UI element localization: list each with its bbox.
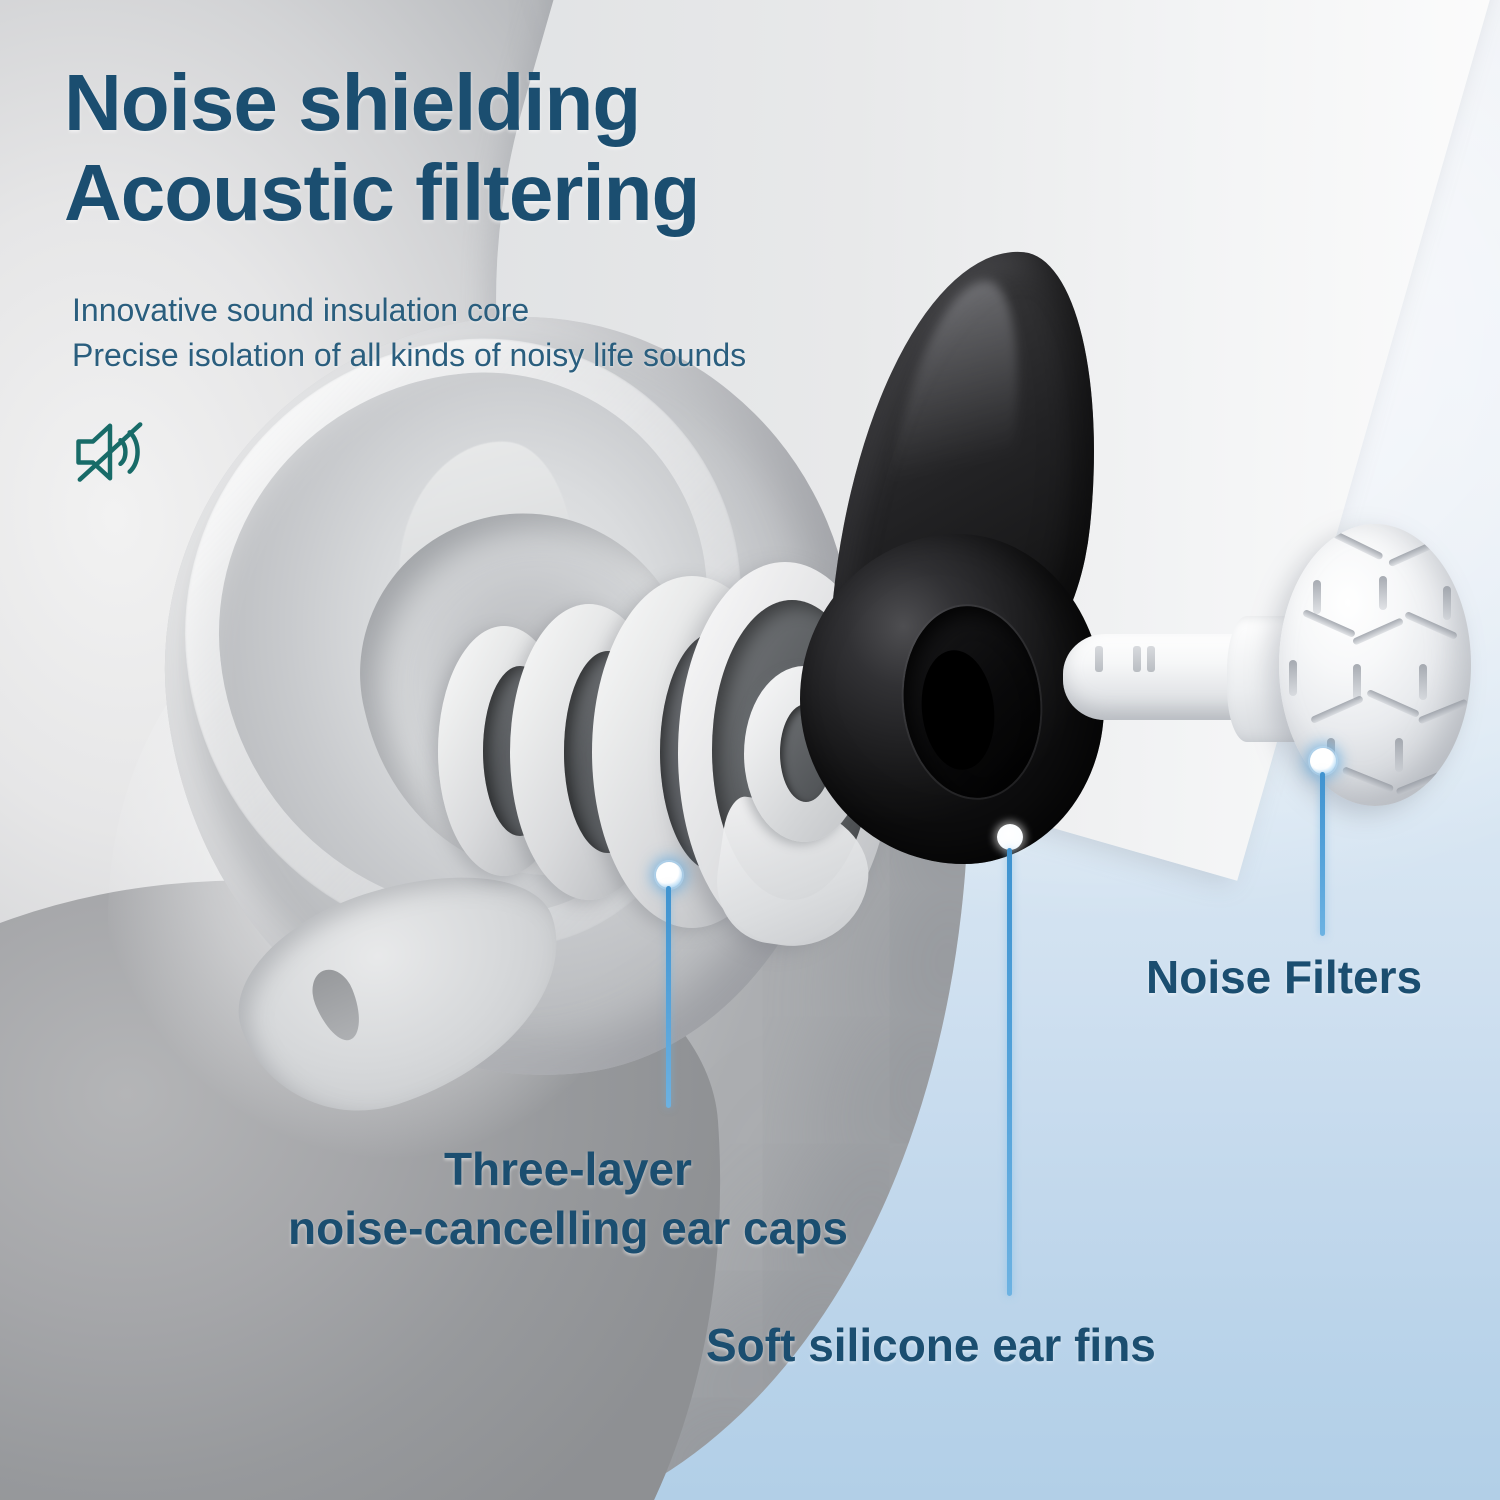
honeycomb-segment <box>1352 617 1404 645</box>
honeycomb-segment <box>1289 660 1297 696</box>
callout-dot-noise-filters[interactable] <box>1310 748 1336 774</box>
honeycomb-segment <box>1419 664 1427 700</box>
page-title-line2: Acoustic filtering <box>64 148 699 238</box>
page-title: Noise shielding Acoustic filtering <box>64 58 699 237</box>
honeycomb-segment <box>1342 766 1395 793</box>
callout-line-ear-fins <box>1007 848 1012 1296</box>
honeycomb-segment <box>1395 771 1442 795</box>
noise-filter-notch <box>1095 646 1103 672</box>
part-noise-filters <box>1055 512 1475 832</box>
label-soft-silicone-ear-fins: Soft silicone ear fins <box>706 1316 1156 1375</box>
page-subtitle-line1: Innovative sound insulation core <box>72 288 746 333</box>
callout-dot-ear-caps[interactable] <box>656 862 682 888</box>
callout-dot-ear-fins[interactable] <box>997 824 1023 850</box>
callout-line-noise-filters <box>1320 772 1325 936</box>
honeycomb-segment <box>1388 540 1438 568</box>
label-ear-fins-text: Soft silicone ear fins <box>706 1316 1156 1375</box>
label-ear-caps-line2: noise-cancelling ear caps <box>288 1199 848 1258</box>
noise-filter-disc <box>1279 524 1471 806</box>
label-three-layer-ear-caps: Three-layer noise-cancelling ear caps <box>288 1140 848 1258</box>
label-ear-caps-line1: Three-layer <box>288 1140 848 1199</box>
label-noise-filters-text: Noise Filters <box>1146 948 1422 1007</box>
honeycomb-segment <box>1443 586 1451 620</box>
product-infographic: Noise shielding Acoustic filtering Innov… <box>0 0 1500 1500</box>
noise-filter-notch <box>1147 646 1155 672</box>
mute-speaker-icon <box>68 410 152 499</box>
label-noise-filters: Noise Filters <box>1146 948 1422 1007</box>
callout-line-ear-caps <box>666 886 671 1108</box>
honeycomb-segment <box>1395 738 1403 772</box>
honeycomb-segment <box>1418 699 1469 725</box>
noise-filter-notch <box>1133 646 1141 672</box>
honeycomb-segment <box>1310 695 1364 724</box>
honeycomb-segment <box>1313 580 1321 614</box>
honeycomb-segment <box>1379 576 1387 610</box>
page-title-line1: Noise shielding <box>64 58 699 148</box>
honeycomb-segment <box>1366 689 1420 718</box>
honeycomb-segment <box>1302 609 1356 638</box>
page-subtitle: Innovative sound insulation core Precise… <box>72 288 746 379</box>
honeycomb-segment <box>1332 531 1384 561</box>
honeycomb-segment <box>1353 664 1361 700</box>
page-subtitle-line2: Precise isolation of all kinds of noisy … <box>72 333 746 378</box>
